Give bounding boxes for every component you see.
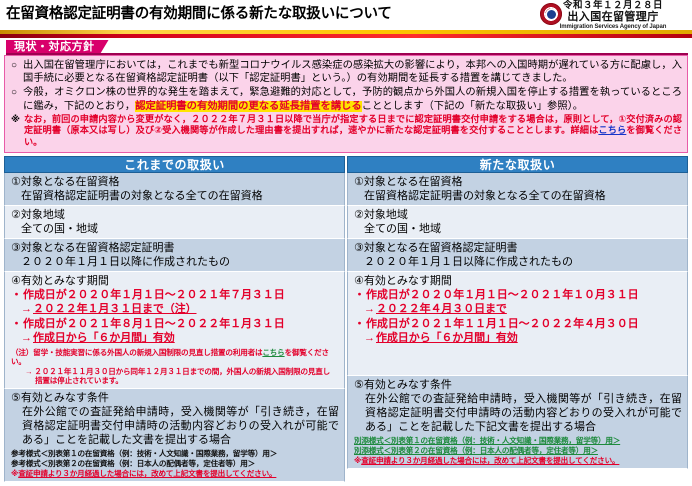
period-result: 作成日から「６か月間」有効 <box>376 332 518 344</box>
reference-form-appendix-2: 参考様式＜別表第２の在留資格（例：日本人の配偶者等，定住者等）用＞ <box>11 459 339 469</box>
footnote-head: （注）留学・技能実習に係る外国人の新規入国制限の見直し措置の利用者は <box>11 348 262 357</box>
period-entry: →作成日から「６か月間」有効 <box>354 331 682 346</box>
row-title: ⑤有効とみなす条件 <box>11 391 339 405</box>
row-valid-period-new: ④有効とみなす期間 ・作成日が２０２０年１月１日〜２０２１年１０月３１日 →２０… <box>347 272 688 376</box>
warning-text: 査証申請より３か月経過した場合には，改めて上記文書を提出してください。 <box>18 469 276 478</box>
bullet-marker: ○ <box>10 86 23 112</box>
section-tag-row: 現状・対応方針 <box>0 40 692 55</box>
row-detail: 全ての国・地域 <box>354 222 682 236</box>
column-header-new: 新たな取扱い <box>347 156 688 173</box>
row-title: ⑤有効とみなす条件 <box>354 378 682 392</box>
period-result: 作成日から「６か月間」有効 <box>33 332 175 344</box>
row-target-certificate-new: ③対象となる在留資格認定証明書 ２０２０年１月１日以降に作成されたもの <box>347 239 688 272</box>
period-entry: →２０２２年４月３０日まで <box>354 302 682 317</box>
period-arrow: → <box>11 302 33 317</box>
row-target-status-previous: ①対象となる在留資格 在留資格認定証明書の対象となる全ての在留資格 <box>4 173 345 206</box>
reference-form-appendix-1: 参考様式＜別表第１の在留資格（例：技術・人文知識・国際業務，留学等）用＞ <box>11 449 339 459</box>
row-target-region-new: ②対象地域 全ての国・地域 <box>347 206 688 239</box>
comparison-table: これまでの取扱い ①対象となる在留資格 在留資格認定証明書の対象となる全ての在留… <box>4 156 688 469</box>
period-result: ２０２２年４月３０日まで <box>376 303 507 315</box>
attached-forms: 別添様式＜別表第１の在留資格（例：技術・人文知識・国際業務，留学等）用＞ 別添様… <box>354 436 682 466</box>
condition-warning: ※査証申請より３か月経過した場合には，改めて上記文書を提出してください。 <box>354 456 682 466</box>
row-valid-period-previous: ④有効とみなす期間 ・作成日が２０２０年１月１日〜２０２１年７月３１日 →２０２… <box>4 272 345 389</box>
row-detail: 在留資格認定証明書の対象となる全ての在留資格 <box>11 189 339 203</box>
section-tag-underline <box>6 53 688 55</box>
footnote-link[interactable]: こちら <box>262 348 284 357</box>
row-title: ④有効とみなす期間 <box>354 274 682 288</box>
condition-text: 在外公館での査証発給申請時，受入機関等が「引き続き，在留資格認定証明書交付申請時… <box>354 392 682 434</box>
period-entry: ・作成日が２０２０年１月１日〜２０２１年７月３１日 <box>11 288 339 303</box>
details-link[interactable]: こちら <box>598 125 626 135</box>
document-page: 在留資格認定証明書の有効期間に係る新たな取扱いについて 令和３年１２月２８日 出… <box>0 0 692 486</box>
column-header-previous: これまでの取扱い <box>4 156 345 173</box>
footnote-line-2: → ２０２１年１１月３０日から同年１２月３１日までの間，外国人の新規入国制限の見… <box>11 367 339 377</box>
immigration-services-agency-emblem-icon <box>540 3 562 25</box>
reference-forms: 参考様式＜別表第１の在留資格（例：技術・人文知識・国際業務，留学等）用＞ 参考様… <box>11 449 339 479</box>
notice-text-part: 出入国在留管理庁においては，これまでも新型コロナウイルス感染症の感染拡大の影響に… <box>23 60 682 84</box>
attached-form-appendix-2-link[interactable]: 別添様式＜別表第２の在留資格（例：日本人の配偶者等，定住者等）用＞ <box>354 446 682 456</box>
column-previous-handling: これまでの取扱い ①対象となる在留資格 在留資格認定証明書の対象となる全ての在留… <box>4 156 345 469</box>
period-condition: 作成日が２０２０年１月１日〜２０２１年１０月３１日 <box>366 289 639 301</box>
red-divider <box>0 34 692 38</box>
notice-bullet-text: 出入国在留管理庁においては，これまでも新型コロナウイルス感染症の感染拡大の影響に… <box>23 59 682 85</box>
period-result: ２０２２年１月３１日まで（注） <box>33 303 197 315</box>
document-header: 在留資格認定証明書の有効期間に係る新たな取扱いについて 令和３年１２月２８日 出… <box>0 0 692 30</box>
notice-highlight: 認定証明書の有効期間の更なる延長措置を講じる <box>135 101 362 112</box>
period-bullet: ・ <box>354 317 366 332</box>
period-entry: ・作成日が２０２０年１月１日〜２０２１年１０月３１日 <box>354 288 682 303</box>
row-detail: ２０２０年１月１日以降に作成されたもの <box>11 255 339 269</box>
condition-warning: ※査証申請より３か月経過した場合には，改めて上記文書を提出してください。 <box>11 469 339 479</box>
period-entry: ・作成日が２０２１年８月１日〜２０２２年１月３１日 <box>11 317 339 332</box>
bullet-marker: ○ <box>10 59 23 85</box>
notice-bullet-text: 今般，オミクロン株の世界的な発生を踏まえて，緊急避難的対応として，予防的観点から… <box>23 86 682 112</box>
period-condition: 作成日が２０２１年８月１日〜２０２２年１月３１日 <box>23 318 285 330</box>
row-title: ②対象地域 <box>354 208 682 222</box>
period-arrow: → <box>354 331 376 346</box>
row-valid-condition-new: ⑤有効とみなす条件 在外公館での査証発給申請時，受入機関等が「引き続き，在留資格… <box>347 376 688 469</box>
page-title: 在留資格認定証明書の有効期間に係る新たな取扱いについて <box>6 4 392 24</box>
row-title: ①対象となる在留資格 <box>354 175 682 189</box>
row-target-status-new: ①対象となる在留資格 在留資格認定証明書の対象となる全ての在留資格 <box>347 173 688 206</box>
row-title: ③対象となる在留資格認定証明書 <box>354 241 682 255</box>
row-detail: ２０２０年１月１日以降に作成されたもの <box>354 255 682 269</box>
row-detail: 在外公館での査証発給申請時，受入機関等が「引き続き，在留資格認定証明書交付申請時… <box>354 392 682 434</box>
period-entry: ・作成日が２０２１年１１月１日〜２０２２年４月３０日 <box>354 317 682 332</box>
notice-panel: ○ 出入国在留管理庁においては，これまでも新型コロナウイルス感染症の感染拡大の影… <box>4 55 688 153</box>
period-arrow: → <box>11 331 33 346</box>
period-condition: 作成日が２０２１年１１月１日〜２０２２年４月３０日 <box>366 318 639 330</box>
period-condition: 作成日が２０２０年１月１日〜２０２１年７月３１日 <box>23 289 285 301</box>
row-title: ①対象となる在留資格 <box>11 175 339 189</box>
period-arrow: → <box>354 302 376 317</box>
footnote-marker: ※ <box>10 114 24 149</box>
footnote-line-3: 措置は停止されています。 <box>11 376 339 386</box>
notice-text-part: こととします（下記の「新たな取扱い」参照）。 <box>362 101 583 112</box>
row-detail: 在外公館での査証発給申請時，受入機関等が「引き続き，在留資格認定証明書交付申請時… <box>11 405 339 447</box>
row-detail: 全ての国・地域 <box>11 222 339 236</box>
period-entry: →作成日から「６か月間」有効 <box>11 331 339 346</box>
agency-name-en: Immigration Services Agency of Japan <box>538 23 688 31</box>
notice-footnote: ※ なお，前回の申請内容から変更がなく，２０２２年７月３１日以降で当庁が指定する… <box>10 114 682 149</box>
period-entry: →２０２２年１月３１日まで（注） <box>11 302 339 317</box>
warning-text: 査証申請より３か月経過した場合には，改めて上記文書を提出してください。 <box>361 456 619 465</box>
period-bullet: ・ <box>354 288 366 303</box>
notice-bullet: ○ 今般，オミクロン株の世界的な発生を踏まえて，緊急避難的対応として，予防的観点… <box>10 86 682 112</box>
row-target-region-previous: ②対象地域 全ての国・地域 <box>4 206 345 239</box>
period-footnote: （注）留学・技能実習に係る外国人の新規入国制限の見直し措置の利用者はこちらを御覧… <box>11 348 339 386</box>
row-title: ②対象地域 <box>11 208 339 222</box>
notice-bullet: ○ 出入国在留管理庁においては，これまでも新型コロナウイルス感染症の感染拡大の影… <box>10 59 682 85</box>
row-detail: 在留資格認定証明書の対象となる全ての在留資格 <box>354 189 682 203</box>
agency-block: 令和３年１２月２８日 出入国在留管理庁 Immigration Services… <box>538 1 688 31</box>
condition-text: 在外公館での査証発給申請時，受入機関等が「引き続き，在留資格認定証明書交付申請時… <box>11 405 339 447</box>
row-target-certificate-previous: ③対象となる在留資格認定証明書 ２０２０年１月１日以降に作成されたもの <box>4 239 345 272</box>
row-title: ③対象となる在留資格認定証明書 <box>11 241 339 255</box>
period-bullet: ・ <box>11 317 23 332</box>
column-new-handling: 新たな取扱い ①対象となる在留資格 在留資格認定証明書の対象となる全ての在留資格… <box>347 156 688 469</box>
row-title: ④有効とみなす期間 <box>11 274 339 288</box>
attached-form-appendix-1-link[interactable]: 別添様式＜別表第１の在留資格（例：技術・人文知識・国際業務，留学等）用＞ <box>354 436 682 446</box>
notice-footnote-text: なお，前回の申請内容から変更がなく，２０２２年７月３１日以降で当庁が指定する日ま… <box>24 114 682 149</box>
row-valid-condition-previous: ⑤有効とみなす条件 在外公館での査証発給申請時，受入機関等が「引き続き，在留資格… <box>4 389 345 482</box>
period-bullet: ・ <box>11 288 23 303</box>
footnote-text-part: なお，前回の申請内容から変更がなく，２０２２年７月３１日以降で当庁が指定する日ま… <box>24 114 682 136</box>
